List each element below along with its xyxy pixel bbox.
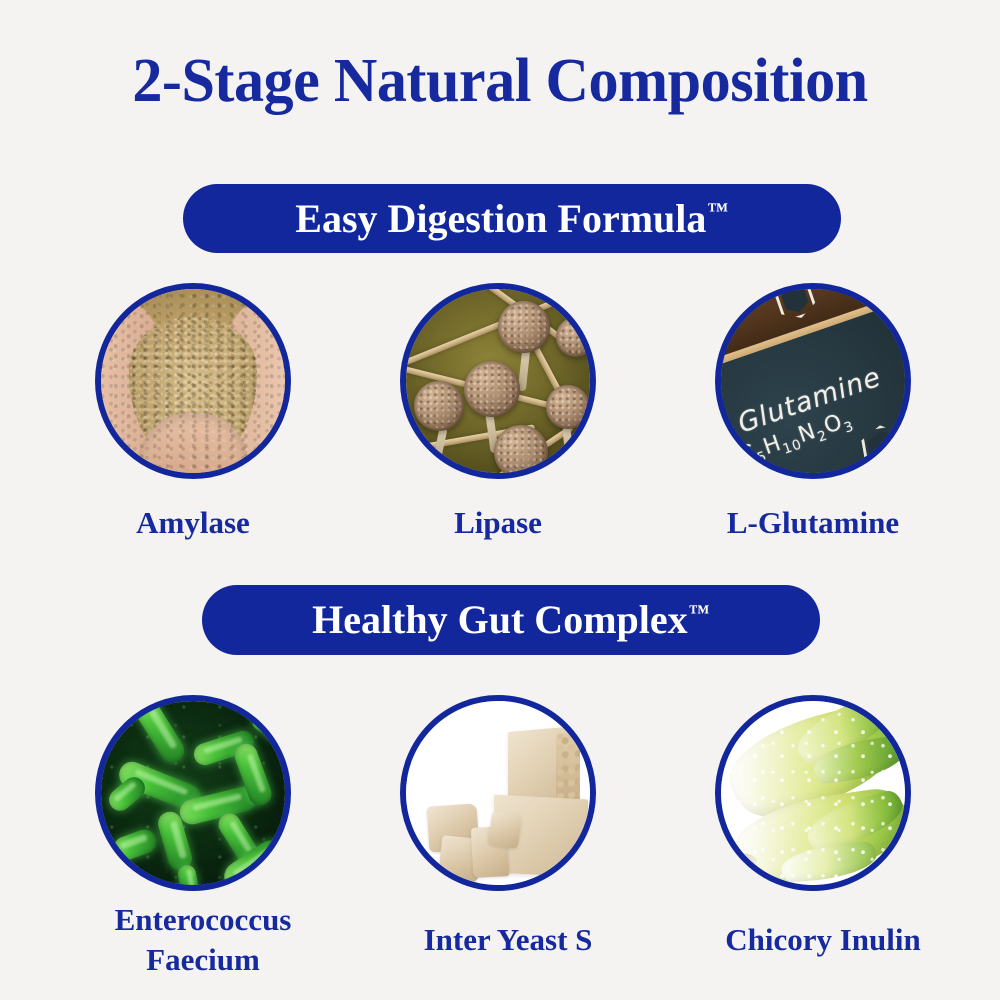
banner-label-2: Healthy Gut Complex xyxy=(312,600,688,640)
spore-head xyxy=(464,361,520,417)
ingredient-label-l-glutamine: L-Glutamine xyxy=(683,503,943,543)
chicory-stem xyxy=(723,853,757,869)
spore-head xyxy=(556,317,590,357)
ingredient-image-amylase xyxy=(95,283,291,479)
page-title: 2-Stage Natural Composition xyxy=(15,48,985,115)
banner-label-1: Easy Digestion Formula xyxy=(295,199,706,239)
spore-head xyxy=(414,381,464,431)
green-bacteria-rods-image xyxy=(101,701,285,885)
spore-head xyxy=(546,385,590,429)
ingredient-label-lipase: Lipase xyxy=(368,503,628,543)
chicory-endive-image xyxy=(721,701,905,885)
yeast-crumb xyxy=(488,811,522,849)
spore-head xyxy=(494,425,548,473)
spore-head xyxy=(498,301,550,353)
grain-speckle-texture xyxy=(101,289,285,473)
aspergillus-mold-spores-image xyxy=(406,289,590,473)
ingredient-image-inter-yeast-s xyxy=(400,695,596,891)
ingredient-label-chicory-inulin: Chicory Inulin xyxy=(683,920,963,960)
ingredient-image-chicory-inulin xyxy=(715,695,911,891)
trademark-symbol-2: ™ xyxy=(689,603,710,624)
banner-healthy-gut-complex: Healthy Gut Complex™ xyxy=(202,585,820,655)
ingredient-image-enterococcus-faecium xyxy=(95,695,291,891)
banner-easy-digestion-formula: Easy Digestion Formula™ xyxy=(183,184,841,253)
hands-holding-grain-image xyxy=(101,289,285,473)
ingredient-image-lipase xyxy=(400,283,596,479)
ingredient-label-amylase: Amylase xyxy=(63,503,323,543)
chalkboard-glutamine-image: Glutamine C5H10N2O3 xyxy=(721,289,905,473)
trademark-symbol-1: ™ xyxy=(707,201,728,222)
infographic-page: 2-Stage Natural Composition Easy Digesti… xyxy=(0,0,1000,1000)
ingredient-label-enterococcus-faecium: Enterococcus Faecium xyxy=(63,900,343,979)
ingredient-label-inter-yeast-s: Inter Yeast S xyxy=(368,920,648,960)
fresh-yeast-blocks-image xyxy=(406,701,590,885)
ingredient-image-l-glutamine: Glutamine C5H10N2O3 xyxy=(715,283,911,479)
